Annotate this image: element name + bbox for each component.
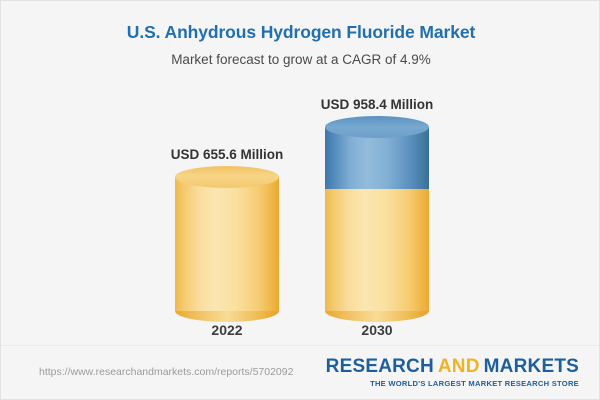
bar-segment-base bbox=[325, 189, 429, 311]
chart-footer: https://www.researchandmarkets.com/repor… bbox=[1, 345, 600, 399]
logo-wordmark: RESEARCHANDMARKETS bbox=[326, 356, 579, 378]
cylinder-top-cap bbox=[175, 166, 279, 188]
cylinder-body bbox=[175, 177, 279, 311]
logo-word-markets: MARKETS bbox=[484, 356, 579, 377]
logo-tagline: THE WORLD'S LARGEST MARKET RESEARCH STOR… bbox=[326, 379, 579, 389]
bar-cylinder-2030[interactable] bbox=[325, 127, 429, 311]
report-url[interactable]: https://www.researchandmarkets.com/repor… bbox=[39, 365, 293, 379]
bar-segment-base bbox=[175, 177, 279, 311]
bar-value-label: USD 655.6 Million bbox=[171, 147, 284, 163]
category-label: 2022 bbox=[211, 321, 242, 339]
cylinder-top-cap bbox=[325, 116, 429, 138]
logo-word-research: RESEARCH bbox=[326, 356, 434, 377]
bar-cylinder-2022[interactable] bbox=[175, 177, 279, 311]
bar-value-label: USD 958.4 Million bbox=[321, 97, 434, 113]
cylinder-body bbox=[325, 189, 429, 311]
chart-plot-area: USD 655.6 Million 2022 USD 958.4 Million bbox=[1, 1, 600, 346]
logo-word-and: AND bbox=[438, 356, 480, 377]
research-and-markets-logo[interactable]: RESEARCHANDMARKETS THE WORLD'S LARGEST M… bbox=[326, 356, 579, 389]
bar-segment-growth bbox=[325, 127, 429, 189]
chart-card: U.S. Anhydrous Hydrogen Fluoride Market … bbox=[0, 0, 600, 400]
category-label: 2030 bbox=[361, 321, 392, 339]
